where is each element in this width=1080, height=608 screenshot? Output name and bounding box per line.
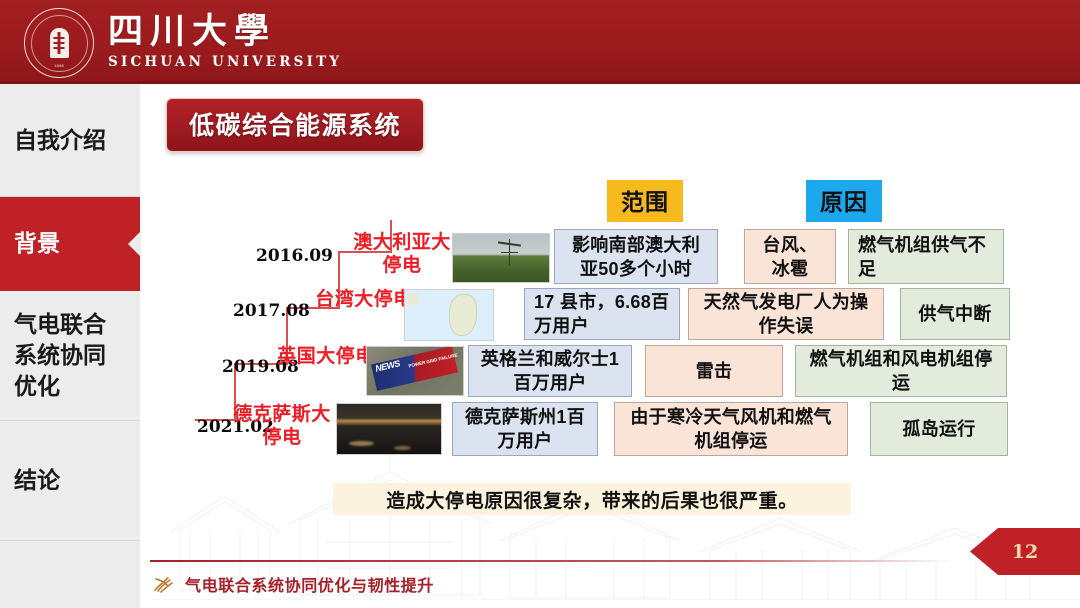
sidebar-item-optimization[interactable]: 气电联合系统协同优化 — [0, 291, 140, 421]
timeline-event-name: 澳大利亚大停电 — [352, 231, 452, 277]
effect-cell: 孤岛运行 — [870, 402, 1008, 456]
footer-divider — [150, 560, 955, 562]
cause-cell: 雷击 — [645, 345, 783, 397]
effect-cell: 燃气机组供气不足 — [848, 229, 1004, 284]
sidebar-item-label: 自我介绍 — [14, 125, 106, 156]
thumbnail-blackout-city — [336, 403, 442, 455]
cause-cell: 天然气发电厂人为操作失误 — [688, 288, 884, 340]
timeline-event-name: 台湾大停电 — [314, 288, 414, 311]
footer-ornament-icon — [152, 573, 174, 595]
university-name-cn: 四川大學 — [108, 12, 342, 52]
scope-cell: 影响南部澳大利亚50多个小时 — [554, 229, 718, 284]
effect-cell: 供气中断 — [900, 288, 1010, 340]
scope-cell: 17 县市，6.68百万用户 — [524, 288, 680, 340]
effect-cell: 燃气机组和风电机组停运 — [795, 345, 1007, 397]
university-name-en: SICHUAN UNIVERSITY — [108, 54, 342, 70]
slide-header: 1896 四川大學 SICHUAN UNIVERSITY — [0, 0, 1080, 84]
slide-footer: 气电联合系统协同优化与韧性提升 — [152, 572, 434, 596]
conclusion-banner: 造成大停电原因很复杂，带来的后果也很严重。 — [333, 483, 851, 515]
sidebar-item-empty[interactable] — [0, 541, 140, 608]
timeline-date: 2016.09 — [256, 246, 333, 266]
thumbnail-taiwan-map — [404, 289, 494, 341]
page-title: 低碳综合能源系统 — [166, 98, 424, 152]
sidebar-item-background[interactable]: 背景 — [0, 197, 140, 291]
thumbnail-power-line — [452, 233, 550, 283]
brand-block: 四川大學 SICHUAN UNIVERSITY — [108, 12, 342, 70]
sidebar-item-intro[interactable]: 自我介绍 — [0, 84, 140, 197]
presentation-slide: 1896 四川大學 SICHUAN UNIVERSITY 自我介绍 背景 气电联… — [0, 0, 1080, 608]
slide-sidebar: 自我介绍 背景 气电联合系统协同优化 结论 — [0, 84, 140, 608]
seal-year: 1896 — [54, 63, 64, 68]
university-seal-icon: 1896 — [24, 8, 94, 78]
cause-cell: 台风、冰雹 — [744, 229, 836, 284]
column-header-cause: 原因 — [806, 180, 882, 222]
sidebar-item-label: 结论 — [14, 465, 60, 496]
sidebar-item-conclusion[interactable]: 结论 — [0, 421, 140, 541]
scope-cell: 英格兰和威尔士1百万用户 — [468, 345, 632, 397]
sidebar-item-label: 背景 — [14, 228, 60, 259]
timeline-date: 2017.08 — [233, 301, 310, 321]
timeline-event-name: 英国大停电 — [276, 345, 376, 368]
cause-cell: 由于寒冷天气风机和燃气机组停运 — [614, 402, 848, 456]
thumbnail-news-grid-failure: NEWS POWER GRID FAILURE — [366, 346, 464, 396]
page-number-badge: 12 — [970, 528, 1080, 575]
timeline-event-name: 德克萨斯大停电 — [232, 403, 332, 449]
active-caret-icon — [128, 231, 141, 257]
footer-title: 气电联合系统协同优化与韧性提升 — [185, 572, 434, 596]
column-header-scope: 范围 — [607, 180, 683, 222]
scope-cell: 德克萨斯州1百万用户 — [452, 402, 598, 456]
sidebar-item-label: 气电联合系统协同优化 — [14, 309, 126, 402]
